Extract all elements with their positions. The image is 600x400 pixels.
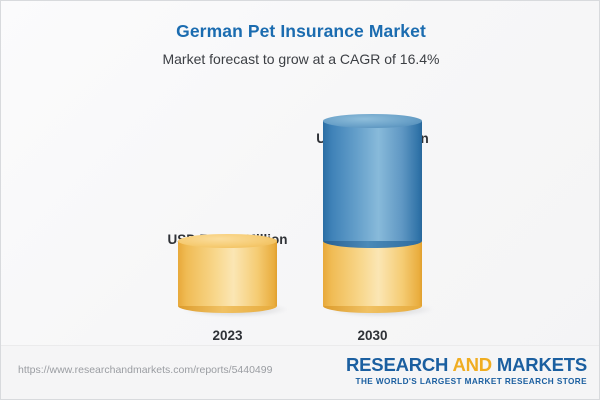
logo-word-markets: MARKETS (497, 354, 587, 375)
cylinder-segment-yellow-2030 (323, 241, 422, 306)
logo-tagline: THE WORLD'S LARGEST MARKET RESEARCH STOR… (346, 374, 587, 386)
chart-card: German Pet Insurance Market Market forec… (0, 0, 600, 400)
plot-area: USD 719.37 Million 2023 USD 2,050 Millio… (1, 81, 600, 346)
cylinder-segment-yellow-2023 (178, 241, 277, 306)
cylinder-stack-2030 (323, 121, 422, 306)
source-url[interactable]: https://www.researchandmarkets.com/repor… (18, 364, 272, 376)
chart-footer: https://www.researchandmarkets.com/repor… (1, 345, 600, 399)
logo-word-and: AND (452, 354, 491, 375)
cylinder-body (323, 241, 422, 306)
logo-wordmark: RESEARCH AND MARKETS (346, 355, 587, 374)
cylinder-body (323, 121, 422, 241)
logo-word-research: RESEARCH (346, 354, 448, 375)
chart-subtitle: Market forecast to grow at a CAGR of 16.… (1, 42, 600, 67)
cylinder-top-ellipse (178, 234, 277, 248)
cylinder-top-ellipse (323, 114, 422, 128)
research-and-markets-logo[interactable]: RESEARCH AND MARKETS THE WORLD'S LARGEST… (346, 355, 587, 386)
chart-title: German Pet Insurance Market (1, 1, 600, 42)
chart-header: German Pet Insurance Market Market forec… (1, 1, 600, 67)
cylinder-stack-2023 (178, 241, 277, 306)
cylinder-body (178, 241, 277, 306)
category-label-2030: 2030 (357, 328, 387, 343)
cylinder-segment-blue-2030 (323, 121, 422, 241)
category-label-2023: 2023 (212, 328, 242, 343)
